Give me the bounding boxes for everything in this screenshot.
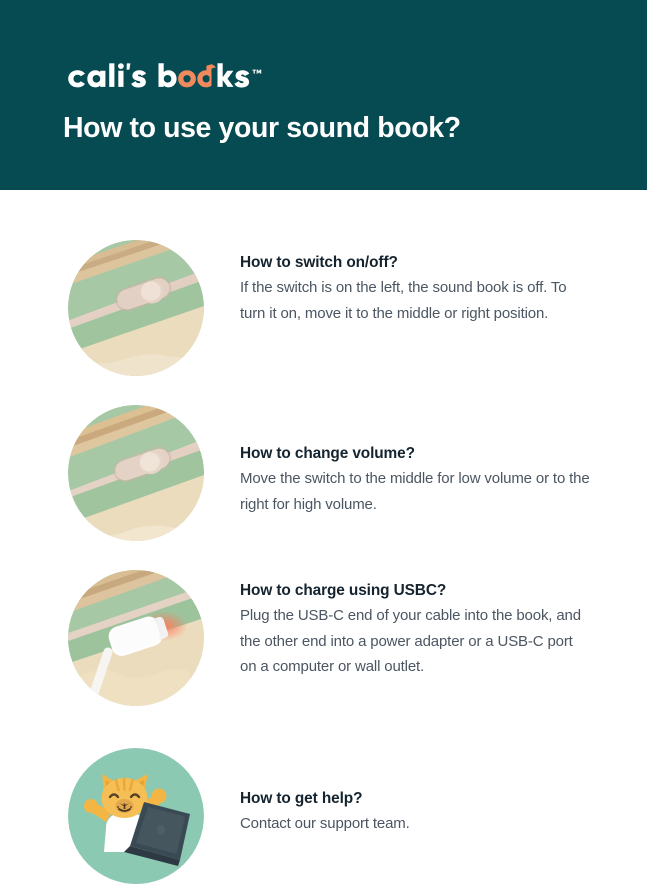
item-body: Plug the USB-C end of your cable into th…	[240, 603, 592, 680]
calis-books-logo-icon	[63, 61, 263, 95]
instruction-text: How to get help? Contact our support tea…	[240, 790, 592, 837]
instruction-text: How to charge using USBC? Plug the USB-C…	[240, 582, 592, 680]
instructions-list: How to switch on/off? If the switch is o…	[0, 190, 647, 879]
photo-book-switch-left	[68, 240, 204, 376]
instruction-text: How to switch on/off? If the switch is o…	[240, 254, 592, 326]
illustration-cat-with-laptop	[68, 748, 204, 884]
item-title: How to switch on/off?	[240, 254, 592, 272]
item-body: Move the switch to the middle for low vo…	[240, 466, 592, 517]
photo-book-switch-middle-icon	[68, 405, 204, 541]
brand-logo	[63, 61, 263, 95]
photo-book-switch-middle	[68, 405, 204, 541]
photo-usbc-cable-charging	[68, 570, 204, 706]
cat-with-laptop-icon	[68, 748, 204, 884]
photo-book-switch-left-icon	[68, 240, 204, 376]
instruction-text: How to change volume? Move the switch to…	[240, 445, 592, 517]
item-title: How to change volume?	[240, 445, 592, 463]
instruction-sheet: How to use your sound book?	[0, 0, 647, 879]
item-body: Contact our support team.	[240, 811, 592, 837]
item-body: If the switch is on the left, the sound …	[240, 275, 592, 326]
item-title: How to get help?	[240, 790, 592, 808]
photo-usbc-cable-charging-icon	[68, 570, 204, 706]
item-title: How to charge using USBC?	[240, 582, 592, 600]
page-header: How to use your sound book?	[0, 0, 647, 190]
page-title: How to use your sound book?	[63, 112, 461, 145]
